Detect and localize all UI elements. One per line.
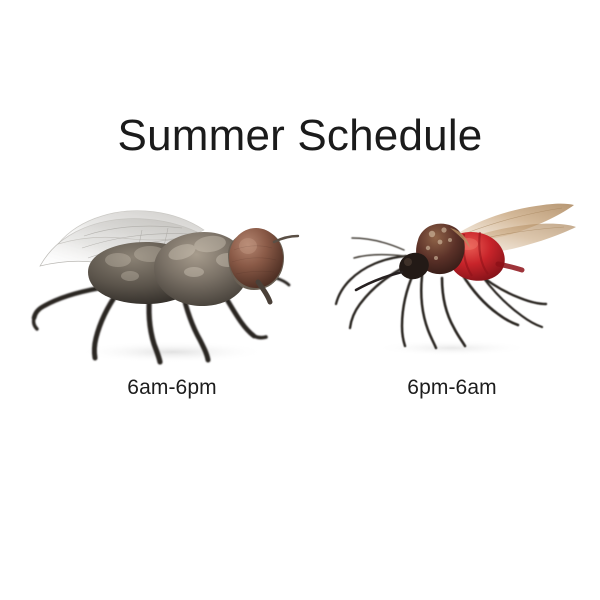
page-title: Summer Schedule [0,110,600,162]
mosquito-icon [322,180,582,365]
caption-night-shift: 6pm-6am [322,376,582,400]
mosquito-figure [322,180,582,365]
panel-day-shift: 6am-6pm [22,180,322,410]
mosquito-proboscis [356,272,402,290]
housefly-icon [22,180,322,365]
housefly-shadow [77,341,267,363]
mosquito-shadow [374,340,530,356]
housefly-figure [22,180,322,365]
panel-night-shift: 6pm-6am [322,180,582,410]
meme-canvas: Summer Schedule [0,0,600,600]
caption-day-shift: 6am-6pm [22,376,322,400]
